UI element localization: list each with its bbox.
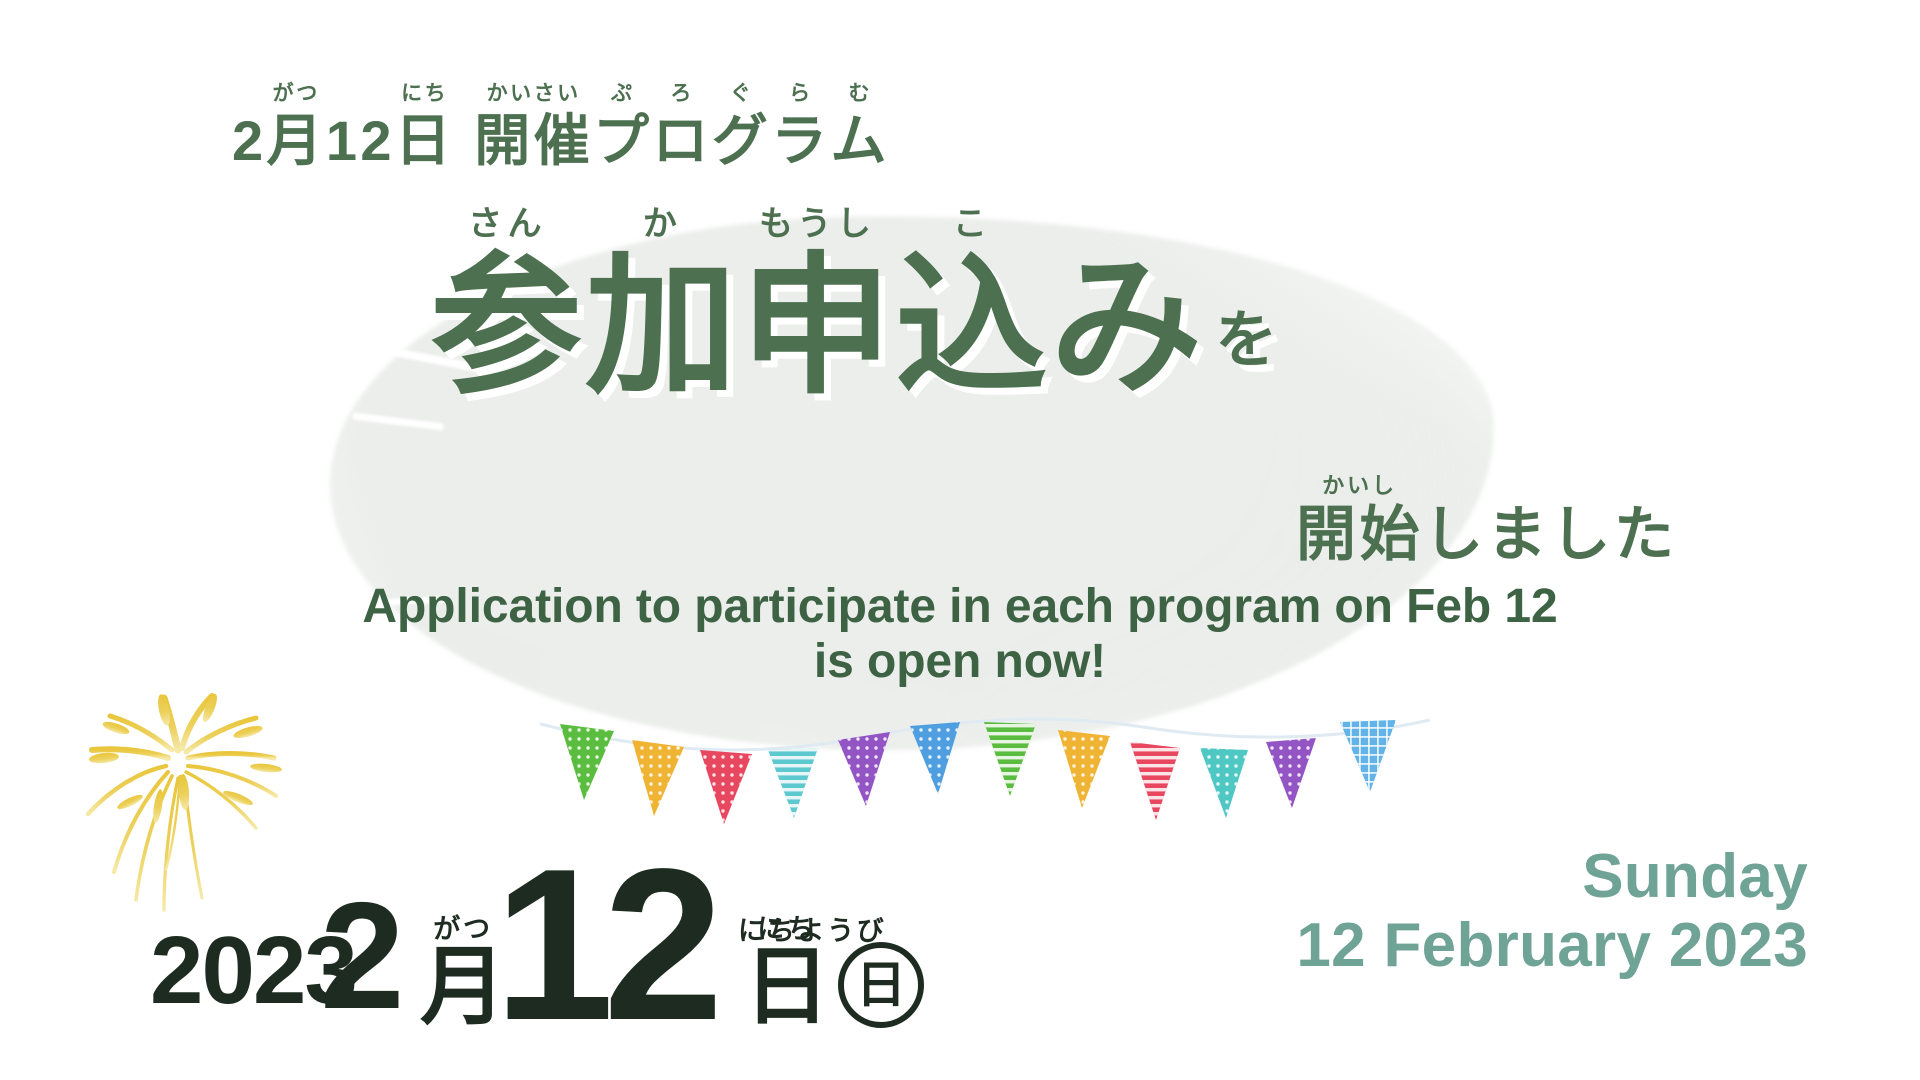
date-month-number: 2: [320, 880, 405, 1032]
date-day-number: 12: [494, 852, 713, 1038]
kanji-base: しました: [1423, 505, 1677, 565]
kanji-base: ム: [831, 113, 890, 169]
ruby-group: み: [1050, 251, 1205, 403]
kanji-base: ラ: [771, 113, 830, 169]
kanji-base: 参: [430, 251, 585, 403]
particle-wo: を: [1215, 306, 1277, 375]
kanji-base: プ: [593, 113, 652, 169]
kanji-base: 日: [395, 113, 454, 169]
furigana: こ: [953, 207, 992, 241]
headline-main-text: さん参か加もうし申こ込み: [430, 242, 1205, 412]
kanji-base: 開始: [1296, 505, 1423, 565]
furigana: ら: [789, 83, 813, 104]
ruby-group: 2: [232, 113, 267, 169]
furigana: もうし: [759, 207, 876, 241]
furigana: ぷ: [611, 83, 635, 104]
kanji-base: 12: [326, 113, 395, 169]
furigana: さん: [468, 207, 547, 241]
firework-icon: [60, 680, 320, 940]
ruby-group: もうし申: [740, 251, 895, 403]
english-body: Application to participate in each progr…: [0, 580, 1920, 689]
ruby-group: さん参: [430, 251, 585, 403]
poster-canvas: 2がつ月12にち日かいさい開催ぷプろロぐグらラむム さん参か加もうし申こ込みを …: [0, 0, 1920, 1080]
ruby-group: か加: [585, 251, 740, 403]
ruby-group: むム: [831, 113, 890, 169]
ruby-group: こ込: [895, 251, 1050, 403]
ruby-group: かいし開始: [1296, 505, 1423, 565]
furigana: ぐ: [730, 83, 754, 104]
ruby-group: ろロ: [652, 113, 711, 169]
furigana: にち: [401, 83, 448, 104]
ruby-group: がつ月: [267, 113, 326, 169]
ruby-group: らラ: [771, 113, 830, 169]
ruby-group: しました: [1423, 505, 1677, 565]
kanji-base: グ: [712, 113, 771, 169]
english-full-date: 12 February 2023: [1296, 911, 1808, 980]
ruby-group: 12: [326, 113, 395, 169]
furigana: にち: [757, 916, 816, 943]
furigana: かいさい: [487, 83, 581, 104]
english-weekday: Sunday: [1296, 842, 1808, 911]
ruby-group: ぐグ: [712, 113, 771, 169]
date-day-kanji: にち 日: [744, 944, 830, 1030]
weekday-circle-badge: 日: [838, 942, 924, 1028]
headline-small: 2がつ月12にち日かいさい開催ぷプろロぐグらラむム: [232, 108, 890, 173]
kanji-base: 2: [232, 113, 267, 169]
kanji-base: 月: [267, 113, 326, 169]
furigana: む: [848, 83, 872, 104]
furigana: ろ: [670, 83, 694, 104]
headline-main: さん参か加もうし申こ込みを: [430, 250, 1277, 405]
kanji-base: 加: [585, 251, 740, 403]
english-body-line1: Application to participate in each progr…: [0, 580, 1920, 635]
ruby-group: ぷプ: [593, 113, 652, 169]
furigana: がつ: [273, 83, 320, 104]
kanji-base: 申: [740, 251, 895, 403]
brush-streak: [338, 292, 397, 314]
kanji-base: み: [1050, 251, 1205, 403]
kanji-base: 開催: [474, 113, 593, 169]
ruby-group: かいさい開催: [474, 113, 593, 169]
headline-tail: かいし開始しました: [1296, 500, 1678, 569]
bunting-flags-icon: [540, 700, 1430, 830]
furigana: がつ: [433, 916, 492, 943]
ruby-group: にち日: [395, 113, 454, 169]
furigana: かいし: [1322, 475, 1397, 497]
kanji-base: 込: [895, 251, 1050, 403]
furigana: か: [643, 207, 682, 241]
english-date-block: Sunday 12 February 2023: [1296, 842, 1808, 981]
kanji-base: ロ: [652, 113, 711, 169]
kanji-base: 日: [744, 944, 830, 1030]
